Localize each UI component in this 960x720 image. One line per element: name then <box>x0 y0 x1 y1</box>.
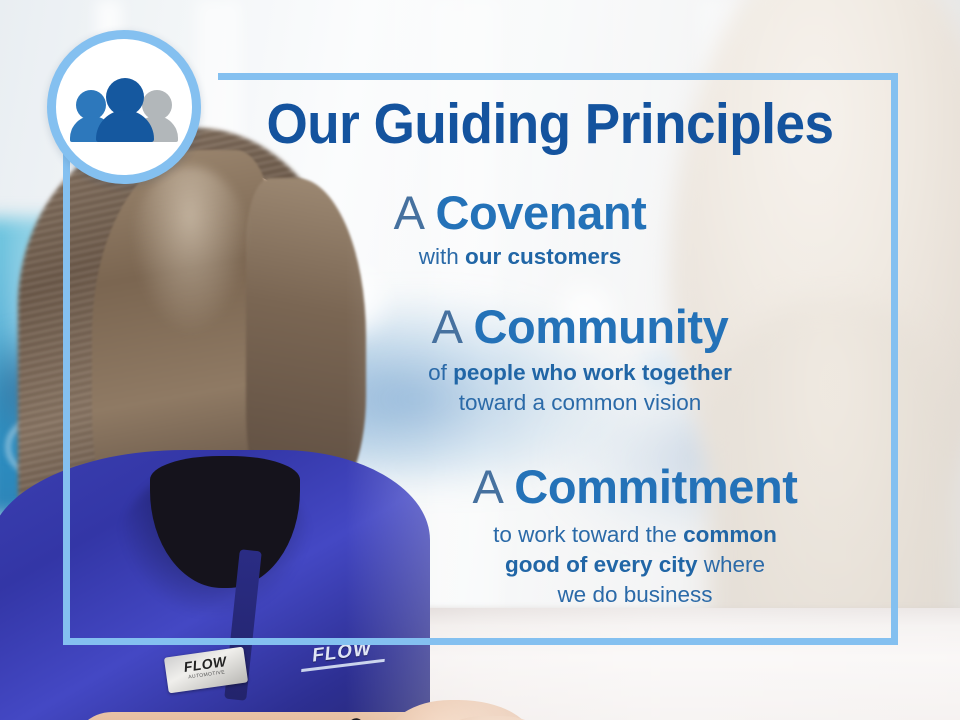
principle-commitment: A Commitment to work toward the commongo… <box>400 460 870 610</box>
principle-subtext: to work toward the commongood of every c… <box>400 520 870 610</box>
people-group-icon <box>72 76 176 138</box>
principle-subtext-line: to work toward the common <box>400 520 870 550</box>
emphasis-text: people who work together <box>453 360 732 385</box>
plain-text: of <box>428 360 453 385</box>
principle-subtext: of people who work togethertoward a comm… <box>330 358 830 418</box>
plain-text: with <box>419 244 465 269</box>
emphasis-text: good of every city <box>505 552 698 577</box>
guiding-principles-graphic: FLOW FLOW AUTOMOTIVE Ou <box>0 0 960 720</box>
principle-subtext-line: with our customers <box>300 242 740 272</box>
principle-keyword: Commitment <box>514 460 797 513</box>
principle-keyword: Covenant <box>435 186 646 239</box>
principle-article: A <box>472 460 501 513</box>
principle-heading: A Community <box>330 300 830 354</box>
plain-text: we do business <box>557 582 712 607</box>
emphasis-text: our customers <box>465 244 621 269</box>
people-badge <box>47 30 201 184</box>
principle-subtext: with our customers <box>300 242 740 272</box>
principle-subtext-line: good of every city where <box>400 550 870 580</box>
principle-subtext-line: toward a common vision <box>330 388 830 418</box>
principle-article: A <box>394 186 423 239</box>
plain-text: where <box>698 552 766 577</box>
principle-subtext-line: of people who work together <box>330 358 830 388</box>
principle-heading: A Covenant <box>300 186 740 240</box>
principle-subtext-line: we do business <box>400 580 870 610</box>
plain-text: to work toward the <box>493 522 683 547</box>
principle-article: A <box>432 300 461 353</box>
principle-heading: A Commitment <box>400 460 870 514</box>
principle-keyword: Community <box>473 300 728 353</box>
emphasis-text: common <box>683 522 777 547</box>
principle-community: A Community of people who work togethert… <box>330 300 830 418</box>
plain-text: toward a common vision <box>459 390 702 415</box>
principle-covenant: A Covenant with our customers <box>300 186 740 272</box>
page-title: Our Guiding Principles <box>243 94 857 154</box>
